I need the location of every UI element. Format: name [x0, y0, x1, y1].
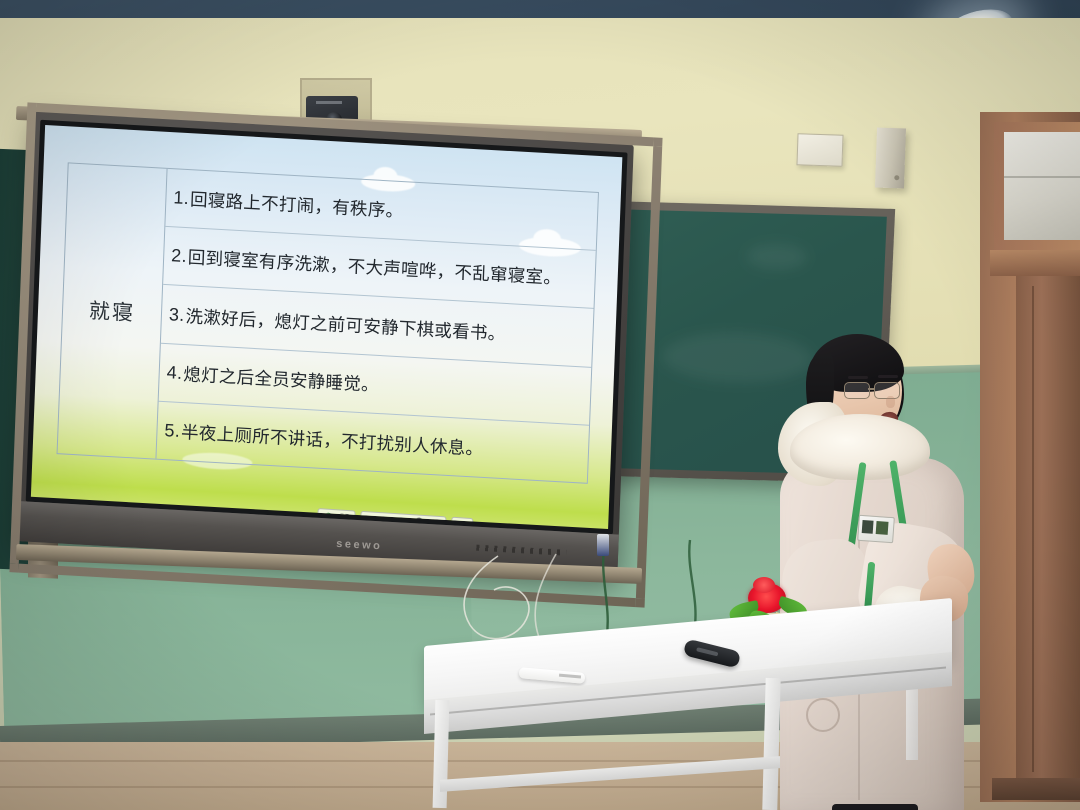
panel-bezel: 就寝 1. 回寝路上不打闹，有秩序。 2. 回到寝室有序洗漱，不大声喧哗，不乱窜…: [26, 120, 628, 535]
cable-connector: [597, 534, 609, 556]
slide-row-number: 2.: [171, 246, 187, 268]
panel-screen[interactable]: 就寝 1. 回寝路上不打闹，有秩序。 2. 回到寝室有序洗漱，不大声喧哗，不乱窜…: [31, 125, 622, 529]
door-transom-window: [1004, 132, 1080, 240]
classroom-scene: 就寝 1. 回寝路上不打闹，有秩序。 2. 回到寝室有序洗漱，不大声喧哗，不乱窜…: [0, 0, 1080, 810]
wall-panel: [796, 133, 843, 167]
slide-row-text: 回到寝室有序洗漱，不大声喧哗，不乱窜寝室。: [187, 244, 561, 290]
eyeglasses: [844, 382, 906, 398]
slide-row-text: 熄灯之后全员安静睡觉。: [183, 361, 379, 397]
slide-row-number: 5.: [164, 420, 180, 442]
panel-vents: [476, 545, 566, 556]
slide-category-label: 就寝: [89, 295, 136, 328]
slide-category-cell: 就寝: [58, 163, 168, 458]
coat-pocket: [806, 698, 840, 732]
classroom-door[interactable]: [980, 100, 1080, 810]
slide-row-number: 4.: [166, 362, 182, 384]
slide-row-text: 半夜上厕所不讲话，不打扰别人休息。: [181, 419, 484, 461]
id-badge: [857, 515, 895, 543]
wall-speaker: [875, 128, 906, 189]
slide-row-number: 1.: [173, 187, 189, 209]
teacher: [770, 330, 980, 810]
panel-brand-label: seewo: [336, 538, 383, 553]
interactive-flat-panel[interactable]: 就寝 1. 回寝路上不打闹，有秩序。 2. 回到寝室有序洗漱，不大声喧哗，不乱窜…: [18, 111, 634, 574]
slide-row-number: 3.: [169, 304, 185, 326]
desk-leg: [433, 700, 450, 808]
slide-table: 就寝 1. 回寝路上不打闹，有秩序。 2. 回到寝室有序洗漱，不大声喧哗，不乱窜…: [57, 162, 599, 483]
trousers: [832, 804, 918, 810]
slide-row-text: 洗漱好后，熄灯之前可安静下棋或看书。: [185, 303, 506, 346]
door-head: [990, 250, 1080, 276]
slide-row-text: 回寝路上不打闹，有秩序。: [190, 186, 404, 223]
door-threshold: [992, 778, 1080, 800]
door-panel[interactable]: [1016, 276, 1080, 780]
